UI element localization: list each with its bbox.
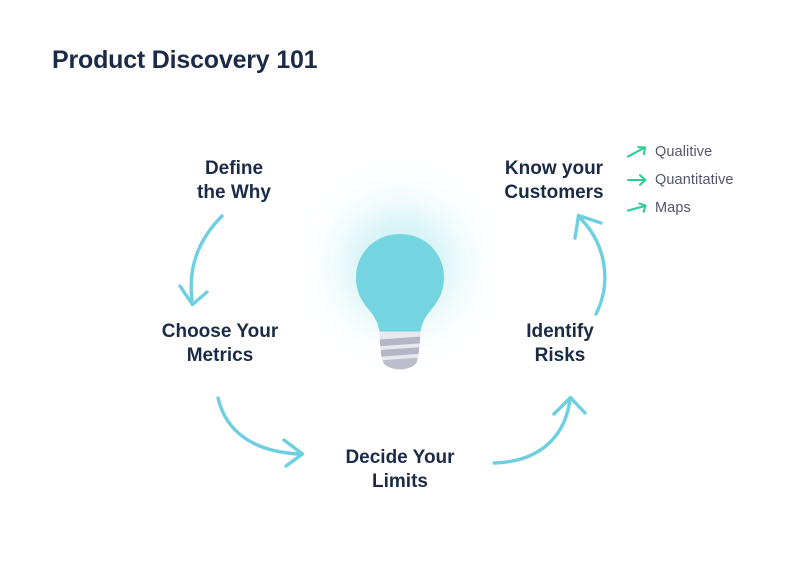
flow-arrow-up-icon: [560, 210, 626, 318]
arrow-right-icon: [626, 201, 648, 215]
flow-node-choose-metrics: Choose Your Metrics: [142, 320, 298, 369]
legend-item-quantitative: Quantitative: [626, 166, 786, 194]
flow-node-know-customers: Know your Customers: [484, 157, 624, 206]
legend-item-qualitive: Qualitive: [626, 138, 786, 166]
slide-canvas: Product Discovery 101 Define the Why Cho…: [0, 0, 800, 571]
flow-node-identify-risks: Identify Risks: [500, 320, 620, 369]
arrow-right-icon: [626, 173, 648, 187]
page-title: Product Discovery 101: [52, 46, 317, 75]
flow-arrow-up-right-icon: [490, 392, 592, 468]
flow-arrow-down-icon: [176, 212, 246, 316]
flow-node-decide-limits: Decide Your Limits: [322, 446, 478, 495]
legend-item-label: Qualitive: [655, 144, 712, 160]
arrow-right-icon: [626, 145, 648, 159]
lightbulb-icon: [352, 232, 448, 372]
legend-item-maps: Maps: [626, 194, 786, 222]
flow-node-define-the-why: Define the Why: [160, 157, 308, 206]
legend: Qualitive Quantitative Maps: [626, 138, 786, 222]
legend-item-label: Maps: [655, 200, 691, 216]
flow-arrow-down-right-icon: [210, 396, 318, 468]
legend-item-label: Quantitative: [655, 172, 734, 188]
